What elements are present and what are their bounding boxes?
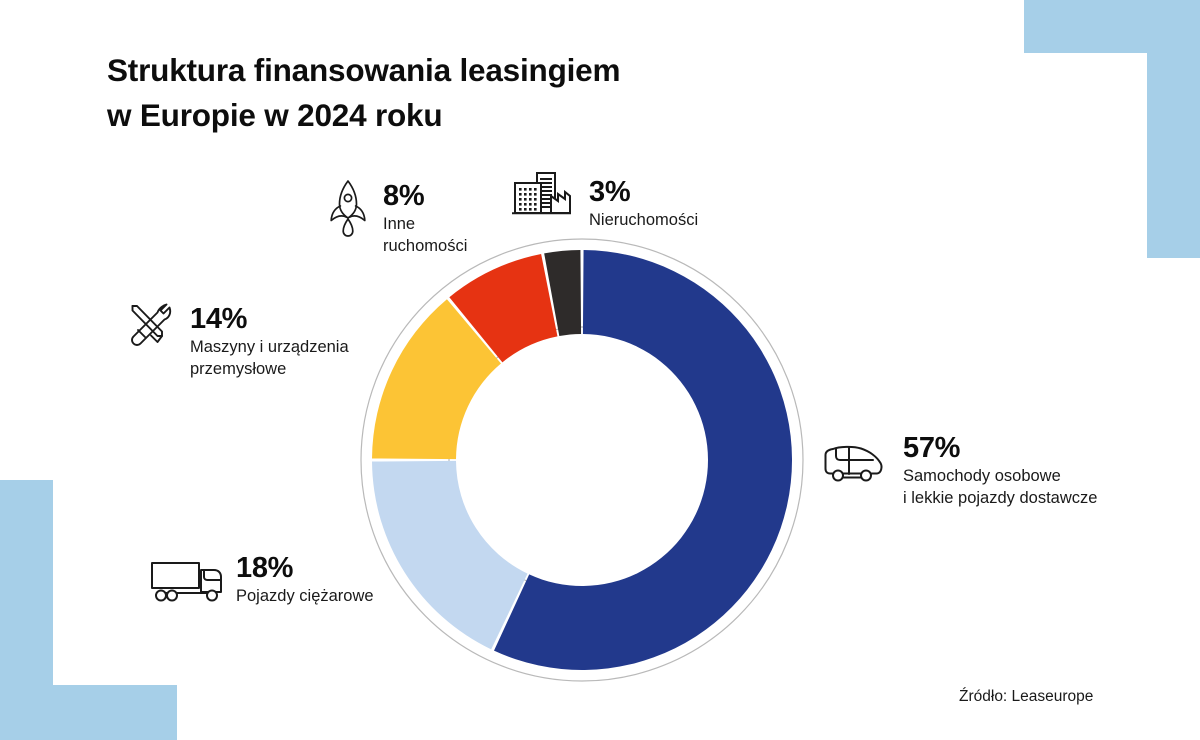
callout-nieruchomosci: 3% Nieruchomości: [589, 176, 698, 232]
source-note: Źródło: Leaseurope: [959, 688, 1093, 706]
buildings-icon: [510, 170, 572, 222]
callout-inne-ruchomosci: 8% Inne ruchomości: [383, 180, 467, 258]
callout-label: Maszyny i urządzenia przemysłowe: [190, 337, 349, 381]
callout-label: Inne ruchomości: [383, 214, 467, 258]
callout-pojazdy-ciezarowe: 18% Pojazdy ciężarowe: [236, 552, 476, 608]
rocket-icon: [328, 177, 368, 239]
infographic-page: Struktura finansowania leasingiem w Euro…: [0, 0, 1200, 740]
donut-chart-svg: [0, 0, 1200, 740]
tools-icon: [126, 300, 178, 352]
callout-label: Pojazdy ciężarowe: [236, 586, 476, 608]
callout-label: Samochody osobowe i lekkie pojazdy dosta…: [903, 466, 1097, 510]
truck-icon: [150, 558, 224, 604]
callout-percent: 8%: [383, 180, 467, 212]
van-icon: [823, 443, 885, 485]
callout-percent: 57%: [903, 432, 1097, 464]
callout-percent: 14%: [190, 303, 349, 335]
callout-percent: 18%: [236, 552, 476, 584]
callout-maszyny: 14% Maszyny i urządzenia przemysłowe: [190, 303, 349, 381]
callout-percent: 3%: [589, 176, 698, 208]
donut-chart: [0, 0, 1200, 740]
callout-label: Nieruchomości: [589, 210, 698, 232]
callout-samochody: 57% Samochody osobowe i lekkie pojazdy d…: [903, 432, 1097, 510]
